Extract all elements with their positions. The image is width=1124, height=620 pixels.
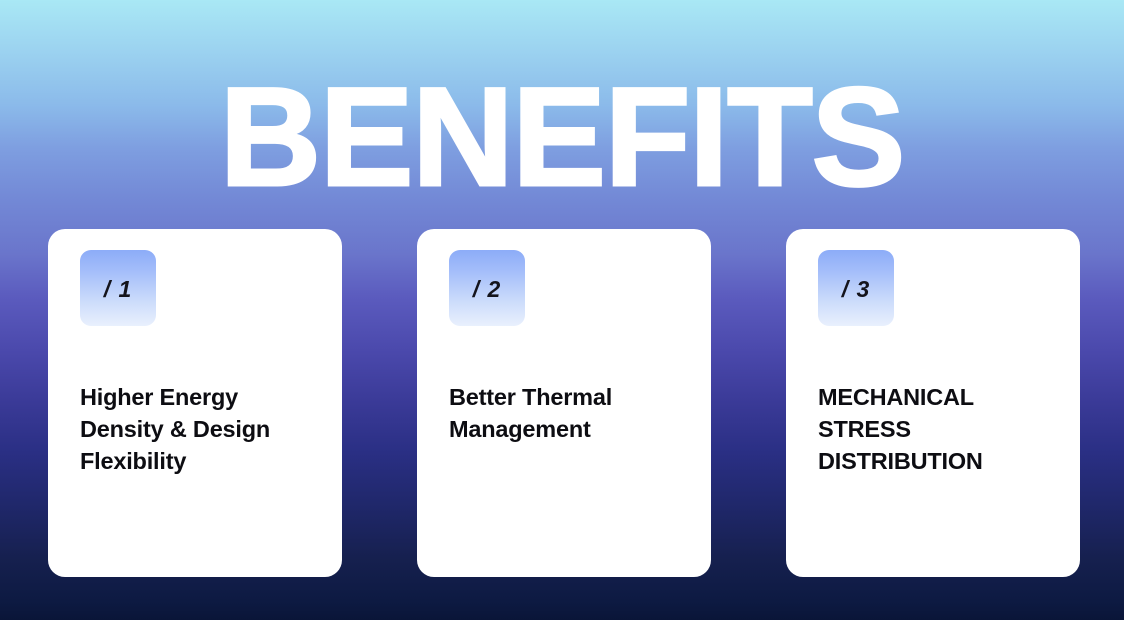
benefit-heading-1: Higher Energy Density & Design Flexibili… bbox=[80, 381, 308, 477]
benefit-number-label: / 2 bbox=[473, 278, 502, 301]
page-title: BENEFITS bbox=[0, 62, 1124, 212]
benefit-number-label: / 1 bbox=[104, 278, 133, 301]
benefit-heading-3: MECHANICAL STRESS DISTRIBUTION bbox=[818, 381, 1046, 477]
benefits-slide: BENEFITS / 1 Higher Energy Density & Des… bbox=[0, 0, 1124, 620]
benefit-number-label: / 3 bbox=[842, 278, 871, 301]
benefit-card-2[interactable]: / 2 Better Thermal Management bbox=[417, 229, 711, 577]
benefit-number-badge-3: / 3 bbox=[818, 250, 894, 326]
benefit-number-badge-1: / 1 bbox=[80, 250, 156, 326]
benefit-card-3[interactable]: / 3 MECHANICAL STRESS DISTRIBUTION bbox=[786, 229, 1080, 577]
benefit-heading-2: Better Thermal Management bbox=[449, 381, 677, 445]
benefit-card-list: / 1 Higher Energy Density & Design Flexi… bbox=[48, 229, 1080, 577]
benefit-number-badge-2: / 2 bbox=[449, 250, 525, 326]
benefit-card-1[interactable]: / 1 Higher Energy Density & Design Flexi… bbox=[48, 229, 342, 577]
